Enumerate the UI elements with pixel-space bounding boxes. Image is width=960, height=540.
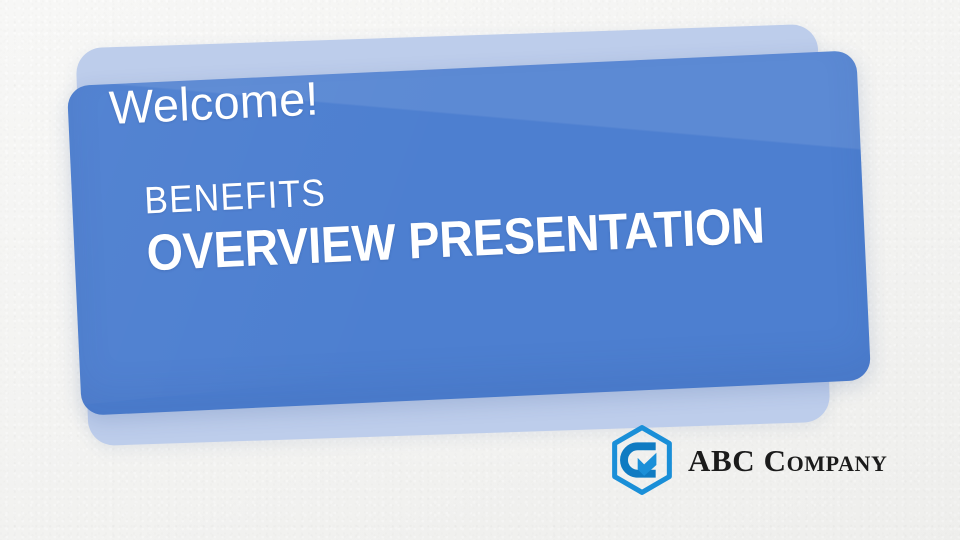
hexagon-c-check-icon	[606, 424, 678, 496]
company-name: ABC Company	[688, 445, 888, 476]
company-logo: ABC Company	[606, 424, 888, 496]
title-text-block: Welcome! BENEFITS OVERVIEW PRESENTATION	[108, 51, 846, 282]
presentation-slide: Welcome! BENEFITS OVERVIEW PRESENTATION …	[0, 0, 960, 540]
